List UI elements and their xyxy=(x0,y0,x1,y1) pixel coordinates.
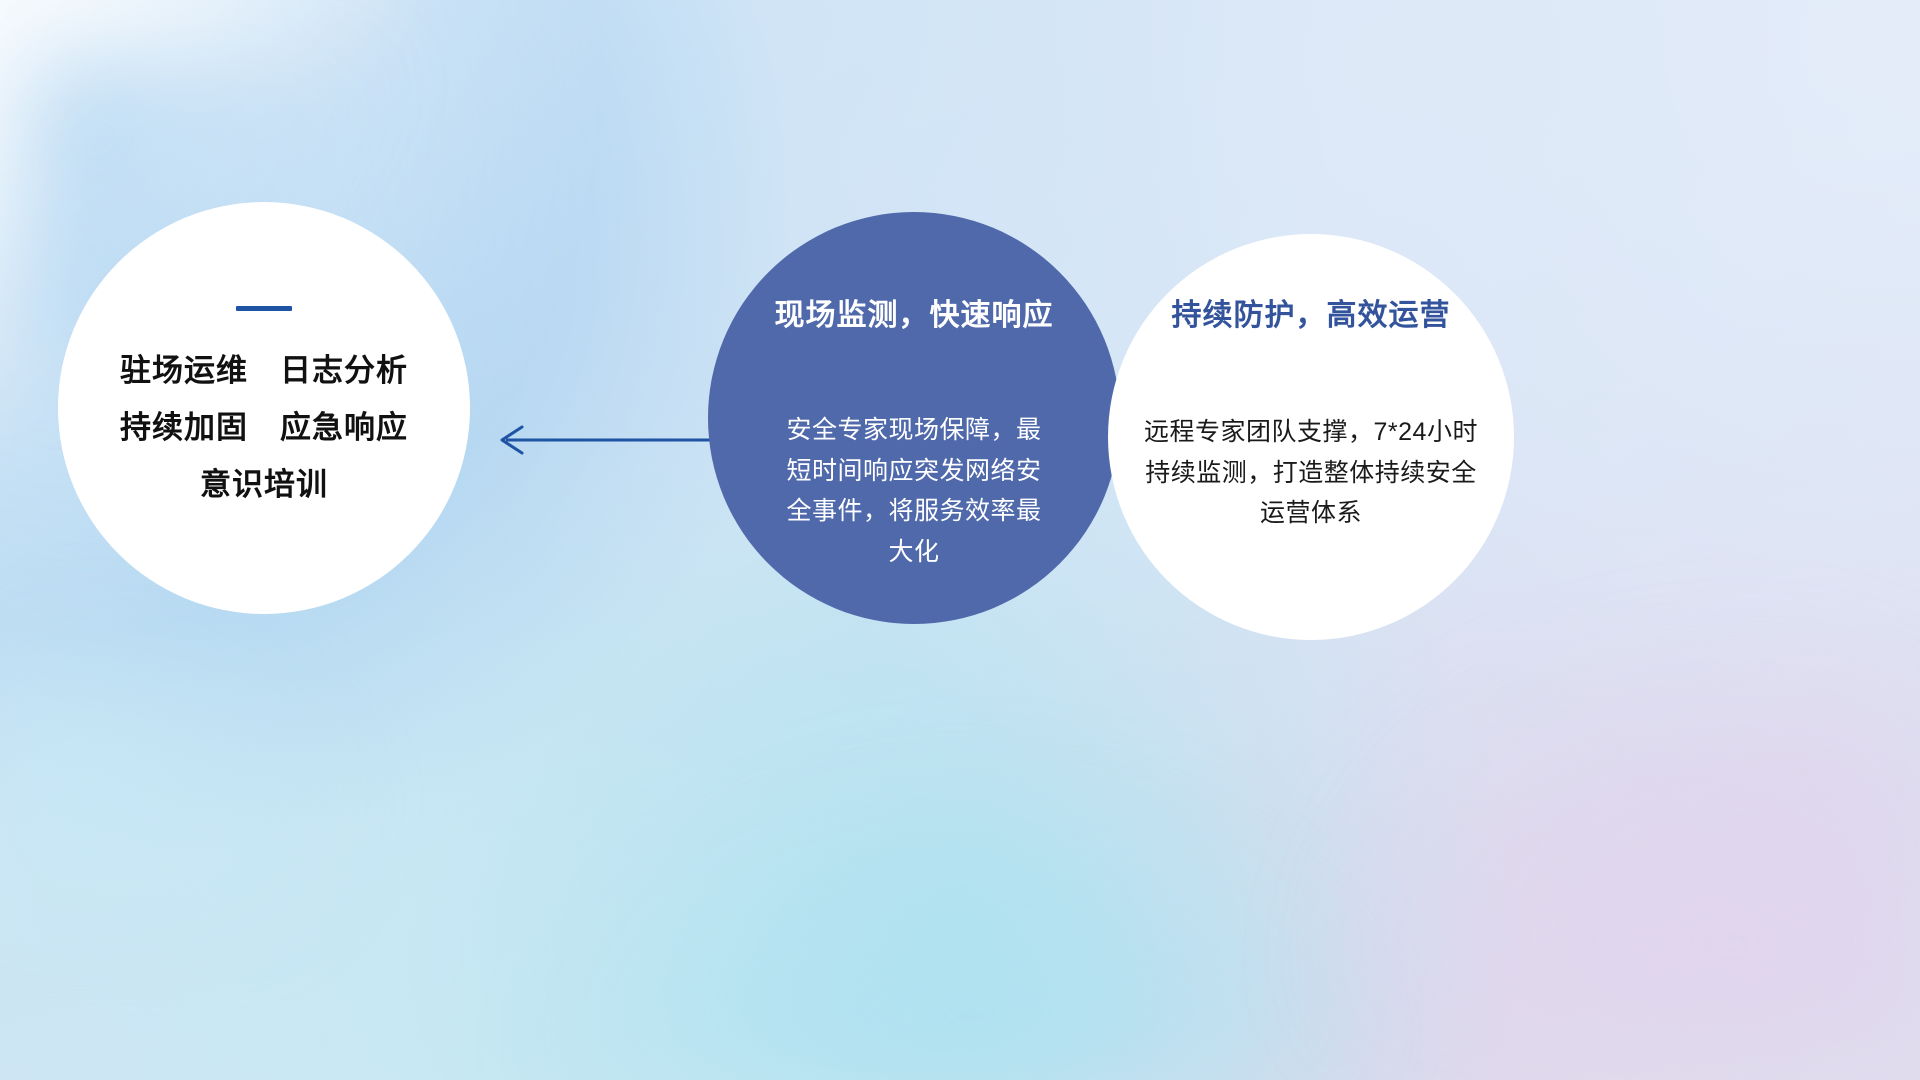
background-highlight-left xyxy=(0,610,360,930)
background-highlight-bottomright xyxy=(1300,620,1920,1040)
onsite-monitoring-body: 安全专家现场保障，最短时间响应突发网络安全事件，将服务效率最大化 xyxy=(774,410,1054,572)
onsite-monitoring-circle[interactable]: 现场监测，快速响应 安全专家现场保障，最短时间响应突发网络安全事件，将服务效率最… xyxy=(708,212,1120,624)
capability-line-2: 持续加固 应急响应 xyxy=(120,412,408,443)
capability-line-1: 驻场运维 日志分析 xyxy=(120,355,408,386)
continuous-protection-circle[interactable]: 持续防护，高效运营 远程专家团队支撑，7*24小时持续监测，打造整体持续安全运营… xyxy=(1108,234,1514,640)
left-flow-arrow xyxy=(480,418,720,462)
continuous-protection-title: 持续防护，高效运营 xyxy=(1172,290,1451,334)
onsite-monitoring-title: 现场监测，快速响应 xyxy=(775,290,1054,334)
slide-canvas: 驻场运维 日志分析 持续加固 应急响应 意识培训 现场监测，快速响应 安全专家现… xyxy=(0,0,1920,1080)
capability-line-3: 意识培训 xyxy=(200,469,328,500)
background-highlight-bottom xyxy=(520,750,1420,1080)
capabilities-circle[interactable]: 驻场运维 日志分析 持续加固 应急响应 意识培训 xyxy=(58,202,470,614)
divider-line xyxy=(236,306,292,311)
continuous-protection-body: 远程专家团队支撑，7*24小时持续监测，打造整体持续安全运营体系 xyxy=(1141,412,1481,534)
